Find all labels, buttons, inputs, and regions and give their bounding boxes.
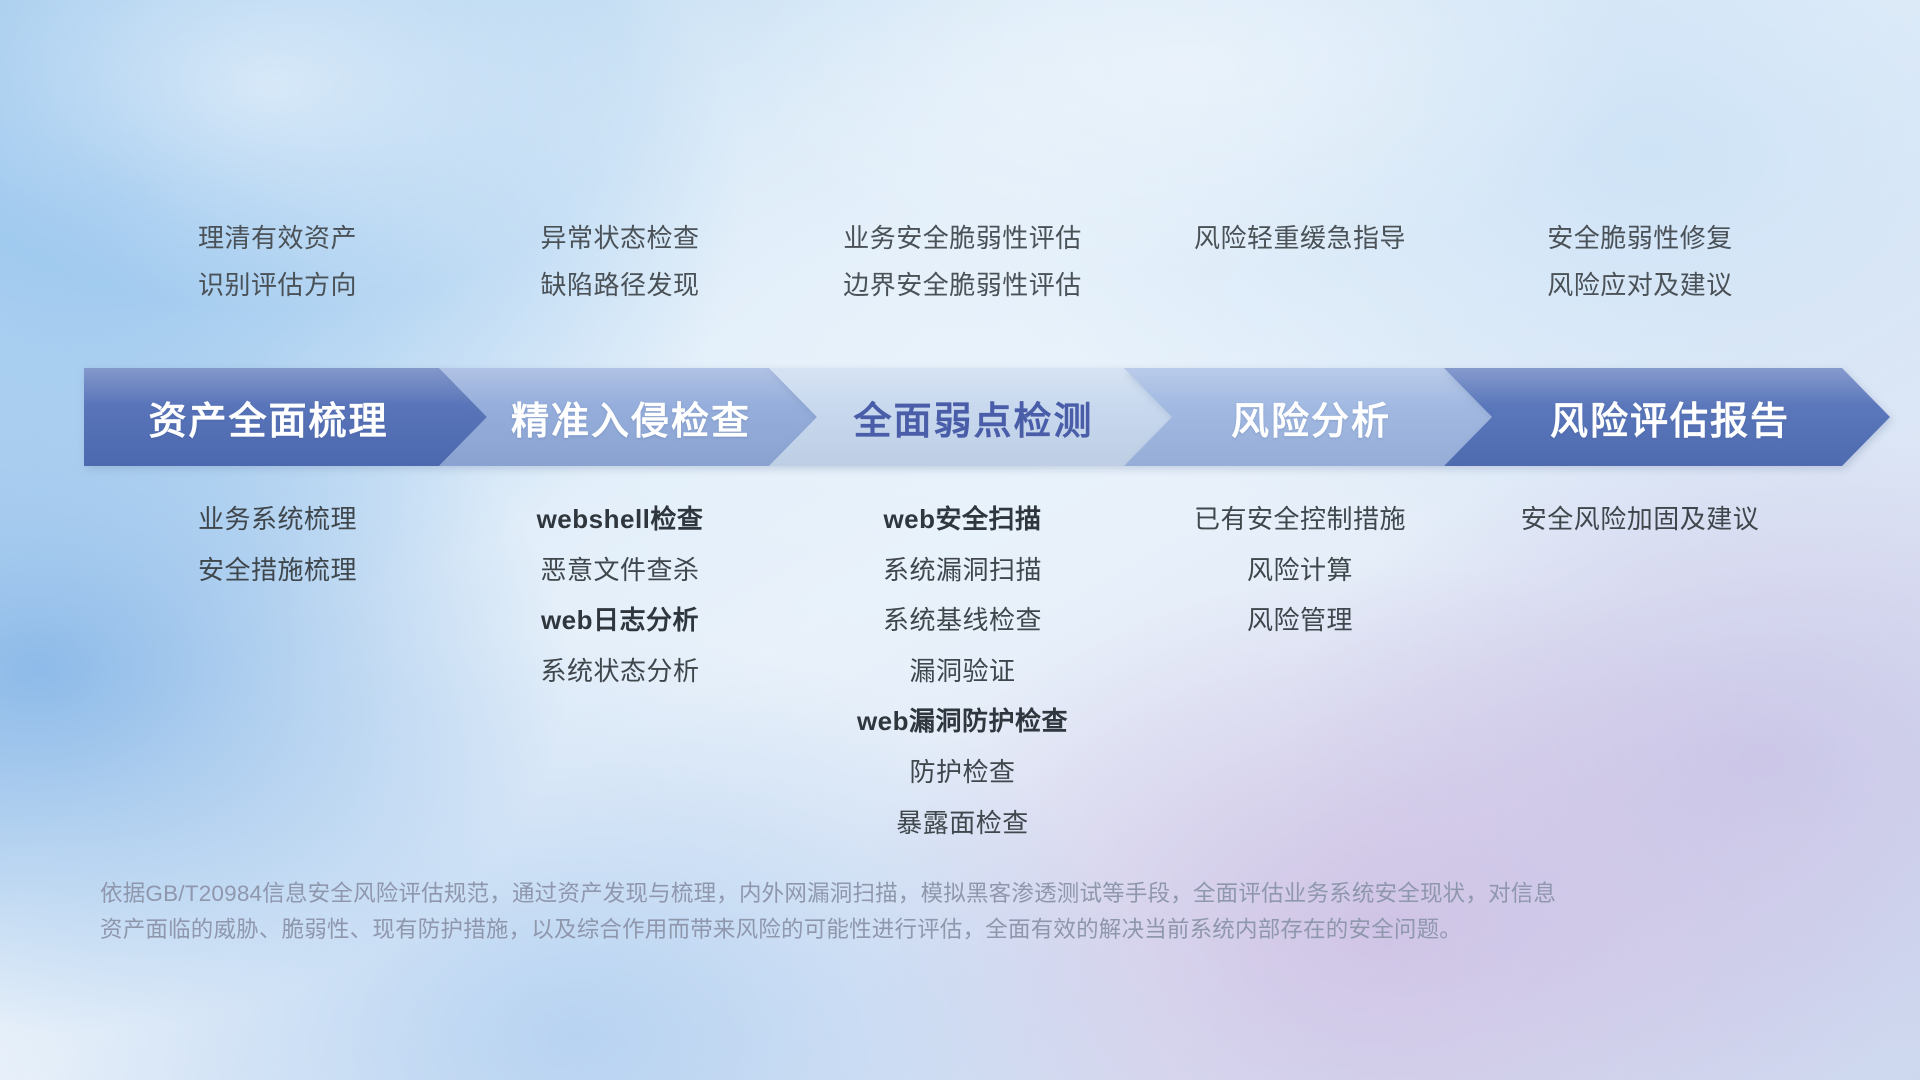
top-note-column-asset-inventory: 理清有效资产识别评估方向 [100, 224, 455, 334]
detail-list-intrusion-check: webshell检查恶意文件查杀web日志分析系统状态分析 [455, 505, 785, 837]
top-note: 业务安全脆弱性评估 [843, 224, 1082, 253]
chevron-label: 风险评估报告 [1444, 390, 1890, 445]
list-item: 业务系统梳理 [198, 505, 357, 534]
top-note-column-risk-analysis: 风险轻重缓急指导 [1140, 224, 1460, 334]
footer-description: 依据GB/T20984信息安全风险评估规范，通过资产发现与梳理，内外网漏洞扫描，… [100, 876, 1660, 949]
chevron-intrusion-check[interactable]: 精准入侵检查 [439, 368, 817, 466]
top-note: 异常状态检查 [540, 224, 699, 253]
top-note: 风险轻重缓急指导 [1194, 224, 1406, 253]
top-note-column-weakness-detection: 业务安全脆弱性评估边界安全脆弱性评估 [785, 224, 1140, 334]
top-note: 缺陷路径发现 [540, 271, 699, 300]
top-note: 安全脆弱性修复 [1547, 224, 1733, 253]
list-item: 系统状态分析 [540, 657, 699, 686]
list-item: 系统漏洞扫描 [883, 556, 1042, 585]
top-note: 理清有效资产 [198, 224, 357, 253]
list-item: 风险管理 [1247, 606, 1353, 635]
footer-line-1: 依据GB/T20984信息安全风险评估规范，通过资产发现与梳理，内外网漏洞扫描，… [100, 876, 1660, 912]
stage-detail-lists: 业务系统梳理安全措施梳理webshell检查恶意文件查杀web日志分析系统状态分… [100, 505, 1820, 837]
list-item: 系统基线检查 [883, 606, 1042, 635]
chevron-label: 资产全面梳理 [84, 390, 487, 445]
chevron-label: 风险分析 [1124, 390, 1492, 445]
footer-line-2: 资产面临的威胁、脆弱性、现有防护措施，以及综合作用而带来风险的可能性进行评估，全… [100, 912, 1660, 948]
list-item: 漏洞验证 [909, 657, 1015, 686]
top-note: 边界安全脆弱性评估 [843, 271, 1082, 300]
list-item: 恶意文件查杀 [540, 556, 699, 585]
list-item: 安全措施梳理 [198, 556, 357, 585]
diagram-stage: 理清有效资产识别评估方向异常状态检查缺陷路径发现业务安全脆弱性评估边界安全脆弱性… [0, 0, 1920, 1080]
detail-list-weakness-detection: web安全扫描系统漏洞扫描系统基线检查漏洞验证web漏洞防护检查防护检查暴露面检… [785, 505, 1140, 837]
detail-list-risk-report: 安全风险加固及建议 [1460, 505, 1820, 837]
list-item: webshell检查 [537, 505, 704, 534]
top-note-column-intrusion-check: 异常状态检查缺陷路径发现 [455, 224, 785, 334]
top-note-column-risk-report: 安全脆弱性修复风险应对及建议 [1460, 224, 1820, 334]
list-item: web漏洞防护检查 [857, 707, 1068, 736]
process-chevron-band: 资产全面梳理精准入侵检查全面弱点检测风险分析风险评估报告 [84, 368, 1842, 466]
list-item: 安全风险加固及建议 [1521, 505, 1760, 534]
top-notes-row: 理清有效资产识别评估方向异常状态检查缺陷路径发现业务安全脆弱性评估边界安全脆弱性… [100, 224, 1820, 334]
detail-list-asset-inventory: 业务系统梳理安全措施梳理 [100, 505, 455, 837]
detail-list-risk-analysis: 已有安全控制措施风险计算风险管理 [1140, 505, 1460, 837]
top-note: 识别评估方向 [198, 271, 357, 300]
chevron-label: 精准入侵检查 [439, 390, 817, 445]
chevron-risk-report[interactable]: 风险评估报告 [1444, 368, 1890, 466]
list-item: 已有安全控制措施 [1194, 505, 1406, 534]
list-item: 防护检查 [909, 758, 1015, 787]
chevron-weakness-detection[interactable]: 全面弱点检测 [769, 368, 1172, 466]
chevron-risk-analysis[interactable]: 风险分析 [1124, 368, 1492, 466]
list-item: 暴露面检查 [896, 809, 1029, 838]
list-item: web日志分析 [541, 606, 699, 635]
chevron-asset-inventory[interactable]: 资产全面梳理 [84, 368, 487, 466]
top-note: 风险应对及建议 [1547, 271, 1733, 300]
list-item: web安全扫描 [883, 505, 1041, 534]
chevron-label: 全面弱点检测 [769, 390, 1172, 445]
list-item: 风险计算 [1247, 556, 1353, 585]
